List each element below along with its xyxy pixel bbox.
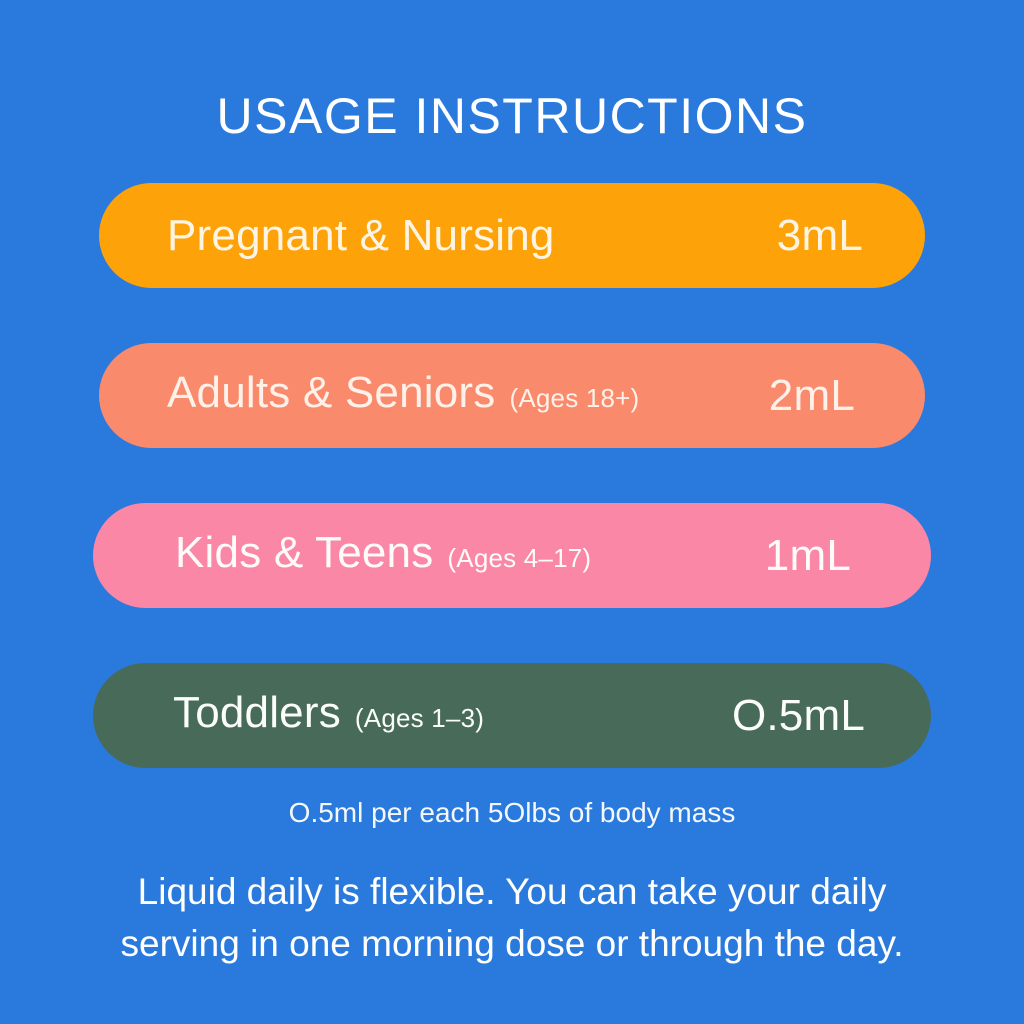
flexibility-note-line-2: serving in one morning dose or through t… <box>62 918 962 970</box>
dosage-group-label: Pregnant & Nursing <box>167 210 555 262</box>
flexibility-note-line-1: Liquid daily is flexible. You can take y… <box>62 866 962 918</box>
dosage-amount: O.5mL <box>732 690 865 742</box>
dosage-age-range: (Ages 4–17) <box>447 532 591 584</box>
dosage-age-range: (Ages 18+) <box>509 372 639 424</box>
dosage-amount: 3mL <box>777 210 863 262</box>
page-title: USAGE INSTRUCTIONS <box>0 84 1024 148</box>
dosage-label-group: Toddlers (Ages 1–3) <box>173 687 484 744</box>
dosage-label-group: Adults & Seniors (Ages 18+) <box>167 367 639 424</box>
usage-instructions-poster: USAGE INSTRUCTIONS Pregnant & Nursing 3m… <box>0 0 1024 1024</box>
dosage-label-group: Pregnant & Nursing <box>167 210 569 262</box>
body-mass-note: O.5ml per each 5Olbs of body mass <box>0 795 1024 831</box>
dosage-row-toddlers: Toddlers (Ages 1–3) O.5mL <box>93 663 931 768</box>
dosage-row-adults-seniors: Adults & Seniors (Ages 18+) 2mL <box>99 343 925 448</box>
flexibility-note: Liquid daily is flexible. You can take y… <box>62 866 962 970</box>
dosage-row-pregnant-nursing: Pregnant & Nursing 3mL <box>99 183 925 288</box>
dosage-label-group: Kids & Teens (Ages 4–17) <box>175 527 591 584</box>
dosage-amount: 1mL <box>765 530 851 582</box>
dosage-row-kids-teens: Kids & Teens (Ages 4–17) 1mL <box>93 503 931 608</box>
dosage-group-label: Toddlers <box>173 687 341 739</box>
dosage-amount: 2mL <box>769 370 855 422</box>
dosage-group-label: Adults & Seniors <box>167 367 495 419</box>
dosage-age-range: (Ages 1–3) <box>355 692 484 744</box>
dosage-row-list: Pregnant & Nursing 3mL Adults & Seniors … <box>0 183 1024 768</box>
dosage-group-label: Kids & Teens <box>175 527 433 579</box>
